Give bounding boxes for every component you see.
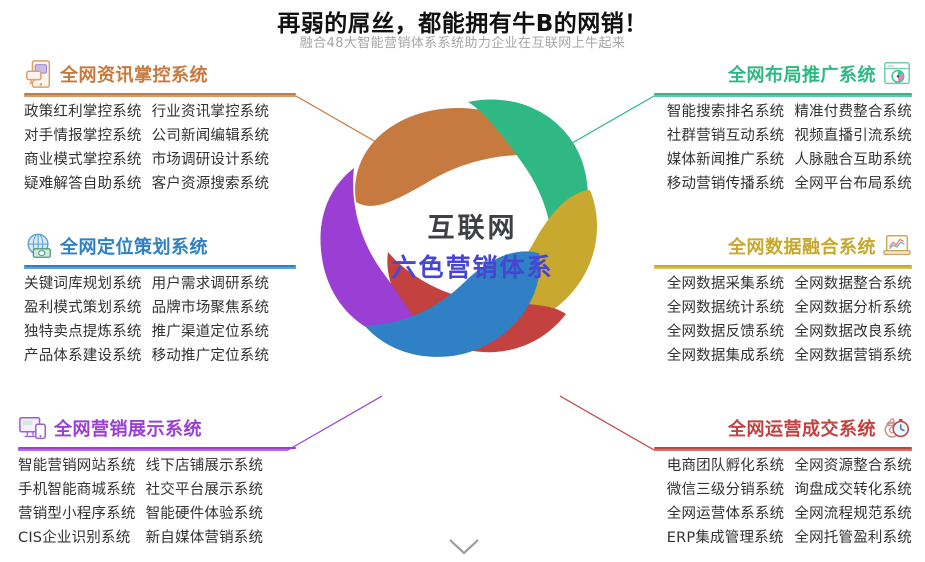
block-data-items: 全网数据采集系统 全网数据整合系统 全网数据统计系统 全网数据分析系统 全网数据…	[654, 273, 912, 367]
list-item[interactable]: 全网流程规范系统	[794, 503, 912, 525]
list-item[interactable]: 移动推广定位系统	[152, 345, 270, 367]
block-show-header: 全网营销展示系统	[18, 410, 296, 446]
list-item[interactable]: 全网数据分析系统	[794, 297, 912, 319]
list-item[interactable]: 全网托管盈利系统	[794, 527, 912, 549]
block-deal-title: 全网运营成交系统	[728, 415, 876, 441]
list-item[interactable]: 媒体新闻推广系统	[667, 149, 785, 171]
stopwatch-gear-icon	[882, 413, 912, 443]
block-plan-items: 关键词库规划系统 用户需求调研系统 盈利模式策划系统 品牌市场聚焦系统 独特卖点…	[24, 273, 296, 367]
block-promo-title: 全网布局推广系统	[728, 61, 876, 87]
list-item[interactable]: 独特卖点提炼系统	[24, 321, 142, 343]
list-item[interactable]: 智能营销网站系统	[18, 455, 136, 477]
list-item[interactable]: 商业模式掌控系统	[24, 149, 142, 171]
block-deal[interactable]: 全网运营成交系统 电商团队孵化系统 全网资源整合系统 微信三级分销系统 询盘成交…	[654, 410, 912, 549]
list-item[interactable]: 对手情报掌控系统	[24, 125, 142, 147]
list-item[interactable]: 社群营销互动系统	[667, 125, 785, 147]
list-item[interactable]: 社交平台展示系统	[146, 479, 264, 501]
list-item[interactable]: 全网数据集成系统	[667, 345, 785, 367]
list-item[interactable]: 全网平台布局系统	[794, 173, 912, 195]
block-deal-rule	[654, 447, 912, 449]
list-item[interactable]: 推广渠道定位系统	[152, 321, 270, 343]
list-item[interactable]: 全网数据反馈系统	[667, 321, 785, 343]
block-promo-rule	[654, 93, 912, 95]
center-main-text: 互联网	[385, 212, 560, 246]
block-promo-header: 全网布局推广系统	[654, 56, 912, 92]
center-sub-text: 六色营销体系	[385, 252, 560, 285]
list-item[interactable]: 询盘成交转化系统	[794, 479, 912, 501]
list-item[interactable]: CIS企业识别系统	[18, 527, 136, 549]
list-item[interactable]: 政策红利掌控系统	[24, 101, 142, 123]
list-item[interactable]: 盈利模式策划系统	[24, 297, 142, 319]
list-item[interactable]: 公司新闻编辑系统	[152, 125, 270, 147]
block-deal-header: 全网运营成交系统	[654, 410, 912, 446]
list-item[interactable]: 视频直播引流系统	[794, 125, 912, 147]
list-item[interactable]: 新自媒体营销系统	[146, 527, 264, 549]
list-item[interactable]: 全网数据营销系统	[794, 345, 912, 367]
block-promo[interactable]: 全网布局推广系统 智能搜索排名系统 精准付费整合系统 社群营销互动系统 视频直播…	[654, 56, 912, 195]
block-data-header: 全网数据融合系统	[654, 228, 912, 264]
list-item[interactable]: 全网运营体系系统	[667, 503, 785, 525]
infographic-stage: 再弱的屌丝，都能拥有牛B的网销！ 融合48大智能营销体系系统助力企业在互联网上牛…	[0, 0, 925, 562]
laptop-chart-icon	[882, 231, 912, 261]
list-item[interactable]: 行业资讯掌控系统	[152, 101, 270, 123]
monitor-mobile-icon	[18, 413, 48, 443]
list-item[interactable]: 产品体系建设系统	[24, 345, 142, 367]
list-item[interactable]: 全网数据采集系统	[667, 273, 785, 295]
block-show-items: 智能营销网站系统 线下店铺展示系统 手机智能商城系统 社交平台展示系统 营销型小…	[18, 455, 296, 549]
list-item[interactable]: 智能硬件体验系统	[146, 503, 264, 525]
list-item[interactable]: 微信三级分销系统	[667, 479, 785, 501]
list-item[interactable]: 用户需求调研系统	[152, 273, 270, 295]
list-item[interactable]: 全网数据统计系统	[667, 297, 785, 319]
chevron-down-icon[interactable]	[446, 536, 482, 556]
list-item[interactable]: 全网资源整合系统	[794, 455, 912, 477]
list-item[interactable]: 疑难解答自助系统	[24, 173, 142, 195]
block-plan-header: 全网定位策划系统	[24, 228, 296, 264]
browser-gauge-icon	[882, 59, 912, 89]
block-show[interactable]: 全网营销展示系统 智能营销网站系统 线下店铺展示系统 手机智能商城系统 社交平台…	[18, 410, 296, 549]
list-item[interactable]: ERP集成管理系统	[667, 527, 785, 549]
block-data-title: 全网数据融合系统	[728, 233, 876, 259]
block-plan-rule	[24, 265, 296, 267]
list-item[interactable]: 客户资源搜索系统	[152, 173, 270, 195]
list-item[interactable]: 智能搜索排名系统	[667, 101, 785, 123]
center-label: 互联网 六色营销体系	[385, 212, 560, 284]
list-item[interactable]: 电商团队孵化系统	[667, 455, 785, 477]
block-data[interactable]: 全网数据融合系统 全网数据采集系统 全网数据整合系统 全网数据统计系统 全网数据…	[654, 228, 912, 367]
phone-chat-icon	[24, 59, 54, 89]
block-show-rule	[18, 447, 296, 449]
block-deal-items: 电商团队孵化系统 全网资源整合系统 微信三级分销系统 询盘成交转化系统 全网运营…	[654, 455, 912, 549]
block-info-rule	[24, 93, 296, 95]
list-item[interactable]: 移动营销传播系统	[667, 173, 785, 195]
block-info-title: 全网资讯掌控系统	[60, 61, 208, 87]
block-info-header: 全网资讯掌控系统	[24, 56, 296, 92]
list-item[interactable]: 品牌市场聚焦系统	[152, 297, 270, 319]
globe-money-icon	[24, 231, 54, 261]
list-item[interactable]: 精准付费整合系统	[794, 101, 912, 123]
block-promo-items: 智能搜索排名系统 精准付费整合系统 社群营销互动系统 视频直播引流系统 媒体新闻…	[654, 101, 912, 195]
list-item[interactable]: 人脉融合互助系统	[794, 149, 912, 171]
list-item[interactable]: 全网数据整合系统	[794, 273, 912, 295]
block-info[interactable]: 全网资讯掌控系统 政策红利掌控系统 行业资讯掌控系统 对手情报掌控系统 公司新闻…	[24, 56, 296, 195]
block-plan-title: 全网定位策划系统	[60, 233, 208, 259]
list-item[interactable]: 手机智能商城系统	[18, 479, 136, 501]
list-item[interactable]: 全网数据改良系统	[794, 321, 912, 343]
block-data-rule	[654, 265, 912, 267]
page-subtitle: 融合48大智能营销体系系统助力企业在互联网上牛起来	[0, 32, 925, 51]
block-show-title: 全网营销展示系统	[54, 415, 202, 441]
block-plan[interactable]: 全网定位策划系统 关键词库规划系统 用户需求调研系统 盈利模式策划系统 品牌市场…	[24, 228, 296, 367]
list-item[interactable]: 关键词库规划系统	[24, 273, 142, 295]
list-item[interactable]: 营销型小程序系统	[18, 503, 136, 525]
list-item[interactable]: 线下店铺展示系统	[146, 455, 264, 477]
block-info-items: 政策红利掌控系统 行业资讯掌控系统 对手情报掌控系统 公司新闻编辑系统 商业模式…	[24, 101, 296, 195]
list-item[interactable]: 市场调研设计系统	[152, 149, 270, 171]
